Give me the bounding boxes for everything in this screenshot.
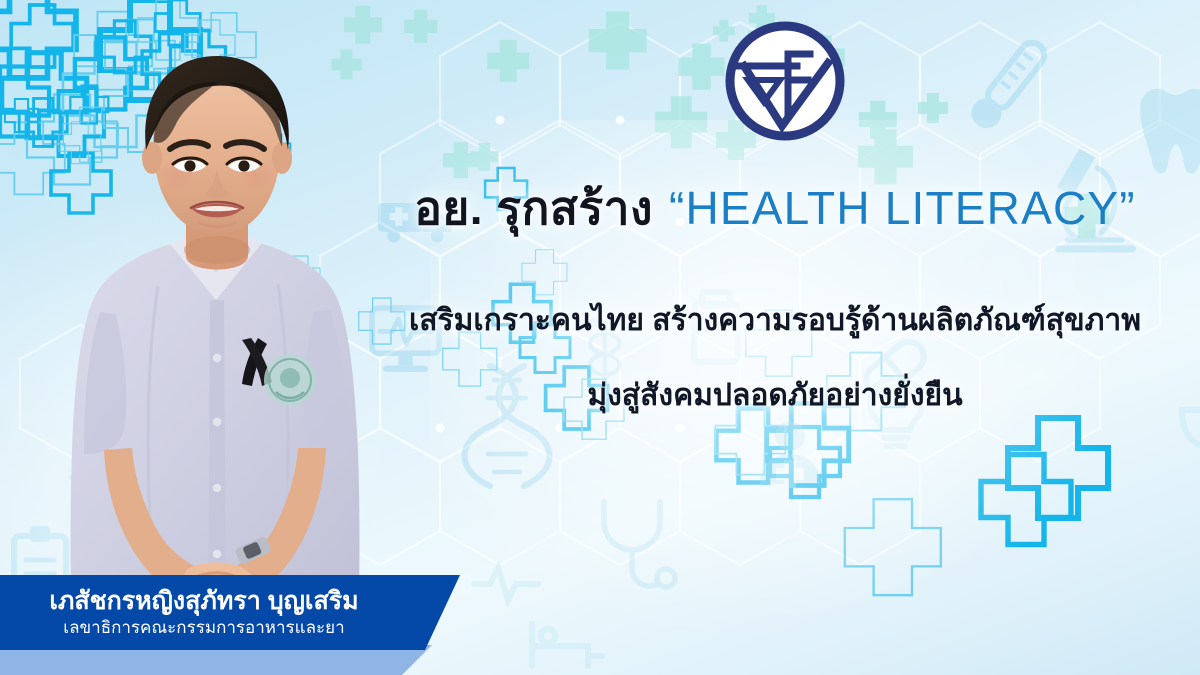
head [142, 56, 292, 234]
title-row: อย. รุกสร้าง “HEALTH LITERACY” [360, 172, 1190, 245]
title-thai: อย. รุกสร้าง [414, 172, 653, 245]
headline-block: อย. รุกสร้าง “HEALTH LITERACY” เสริมเกรา… [360, 172, 1190, 419]
doctor-avatar-icon [760, 421, 820, 488]
speaker-name-banner: เภสัชกรหญิงสุภัทรา บุญเสริม เลขาธิการคณะ… [0, 575, 460, 650]
poster-root: อย. รุกสร้าง “HEALTH LITERACY” เสริมเกรา… [0, 0, 1200, 675]
thermometer-icon [965, 36, 1051, 134]
thai-fda-logo [722, 18, 848, 144]
heart-pulse-icon [474, 568, 538, 600]
hospital-bed-icon [532, 624, 602, 666]
subtitle-line-2: มุ่งสู่สังคมปลอดภัยอย่างยั่งยืน [360, 372, 1190, 419]
stethoscope-icon [604, 502, 675, 587]
agency-emblem [264, 354, 316, 406]
title-english: “HEALTH LITERACY” [669, 181, 1136, 235]
speaker-portrait [58, 50, 388, 635]
subtitle-line-1: เสริมเกราะคนไทย สร้างความรอบรู้ด้านผลิตภ… [360, 297, 1190, 344]
tooth-icon [1140, 89, 1200, 174]
speaker-role: เลขาธิการคณะกรรมการอาหารและยา [63, 618, 344, 638]
speaker-name: เภสัชกรหญิงสุภัทรา บุญเสริม [49, 587, 358, 616]
